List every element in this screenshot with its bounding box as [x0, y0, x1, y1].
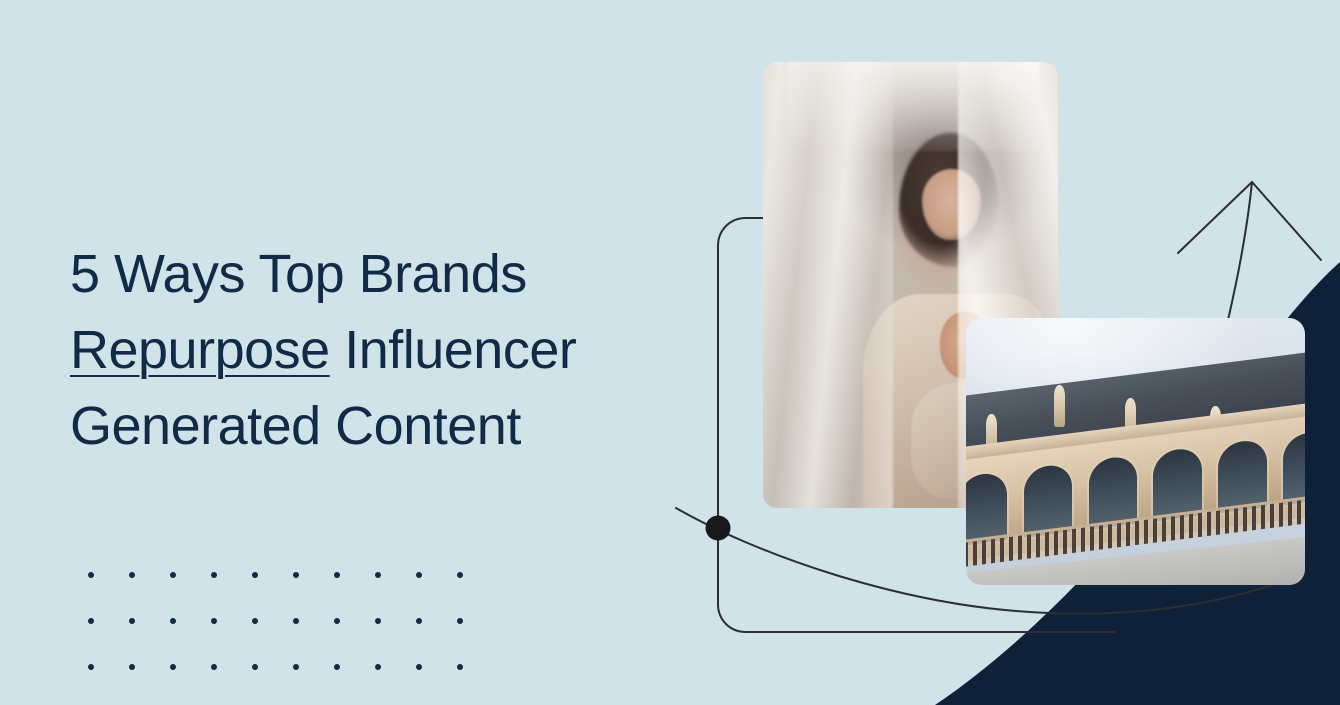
- grid-dot: [170, 618, 176, 624]
- grid-dot: [293, 664, 299, 670]
- grid-dot: [334, 618, 340, 624]
- headline-emphasis-repurpose: Repurpose: [70, 320, 330, 380]
- grid-dot: [170, 664, 176, 670]
- arrow-tail: [1228, 182, 1252, 320]
- headline-line-2-rest: Influencer: [330, 320, 577, 380]
- grid-dot: [252, 664, 258, 670]
- grid-dot: [129, 572, 135, 578]
- headline-line-1: 5 Ways Top Brands: [70, 244, 527, 304]
- grid-dot: [416, 572, 422, 578]
- grid-dot: [88, 664, 94, 670]
- grid-dot: [129, 618, 135, 624]
- dot-grid-decoration: [88, 572, 468, 672]
- grid-dot: [293, 572, 299, 578]
- page-title: 5 Ways Top Brands Repurpose Influencer G…: [70, 236, 690, 464]
- grid-dot: [293, 618, 299, 624]
- grid-dot: [457, 618, 463, 624]
- grid-dot: [457, 664, 463, 670]
- banner-canvas: 5 Ways Top Brands Repurpose Influencer G…: [0, 0, 1340, 705]
- grid-dot: [129, 664, 135, 670]
- grid-dot: [416, 618, 422, 624]
- architecture-photo: [966, 318, 1305, 585]
- grid-dot: [211, 664, 217, 670]
- grid-dot: [88, 618, 94, 624]
- grid-dot: [375, 618, 381, 624]
- grid-dot: [457, 572, 463, 578]
- grid-dot: [88, 572, 94, 578]
- grid-dot: [375, 572, 381, 578]
- grid-dot: [211, 572, 217, 578]
- grid-dot: [416, 664, 422, 670]
- arrow-wing-right: [1252, 182, 1321, 260]
- grid-dot: [170, 572, 176, 578]
- grid-dot: [211, 618, 217, 624]
- connector-node: [706, 516, 731, 541]
- grid-dot: [334, 572, 340, 578]
- headline-line-3: Generated Content: [70, 396, 521, 456]
- grid-dot: [375, 664, 381, 670]
- grid-dot: [252, 618, 258, 624]
- grid-dot: [334, 664, 340, 670]
- arrow-wing-left: [1178, 182, 1252, 253]
- grid-dot: [252, 572, 258, 578]
